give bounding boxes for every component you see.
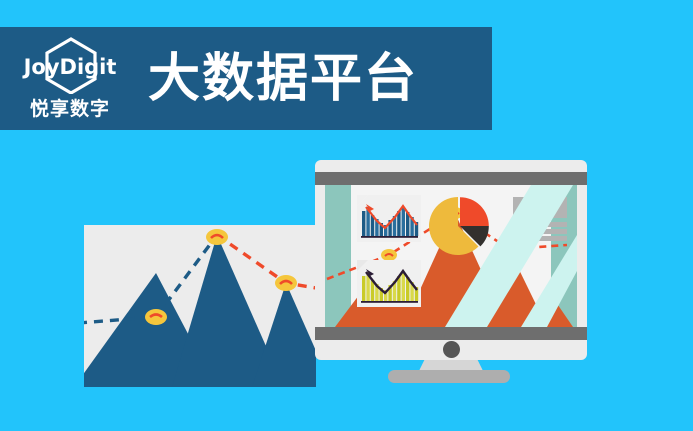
monitor-bottom-bar xyxy=(315,327,587,340)
left-panel-chart xyxy=(84,225,316,387)
data-node xyxy=(275,275,297,291)
banner-illustration-canvas: JoyDigit 悦享数字 大数据平台 xyxy=(0,0,693,431)
data-node xyxy=(145,309,167,325)
screen-glare xyxy=(325,185,577,327)
logo-hexagon-wrap: JoyDigit xyxy=(10,38,130,96)
logo-wordmark: JoyDigit xyxy=(24,57,117,78)
monitor-screen xyxy=(325,185,577,327)
page-title: 大数据平台 xyxy=(148,53,418,105)
monitor-base xyxy=(388,370,510,383)
data-node xyxy=(206,229,228,245)
monitor-power-knob xyxy=(443,341,460,358)
brand-logo: JoyDigit 悦享数字 xyxy=(10,31,130,127)
header-banner: JoyDigit 悦享数字 大数据平台 xyxy=(0,27,492,130)
monitor-top-bar xyxy=(315,172,587,185)
logo-subtitle: 悦享数字 xyxy=(30,100,110,119)
desktop-monitor xyxy=(315,160,587,360)
mountain-shape-right xyxy=(252,283,316,387)
mountain-line-chart-panel xyxy=(84,225,316,387)
